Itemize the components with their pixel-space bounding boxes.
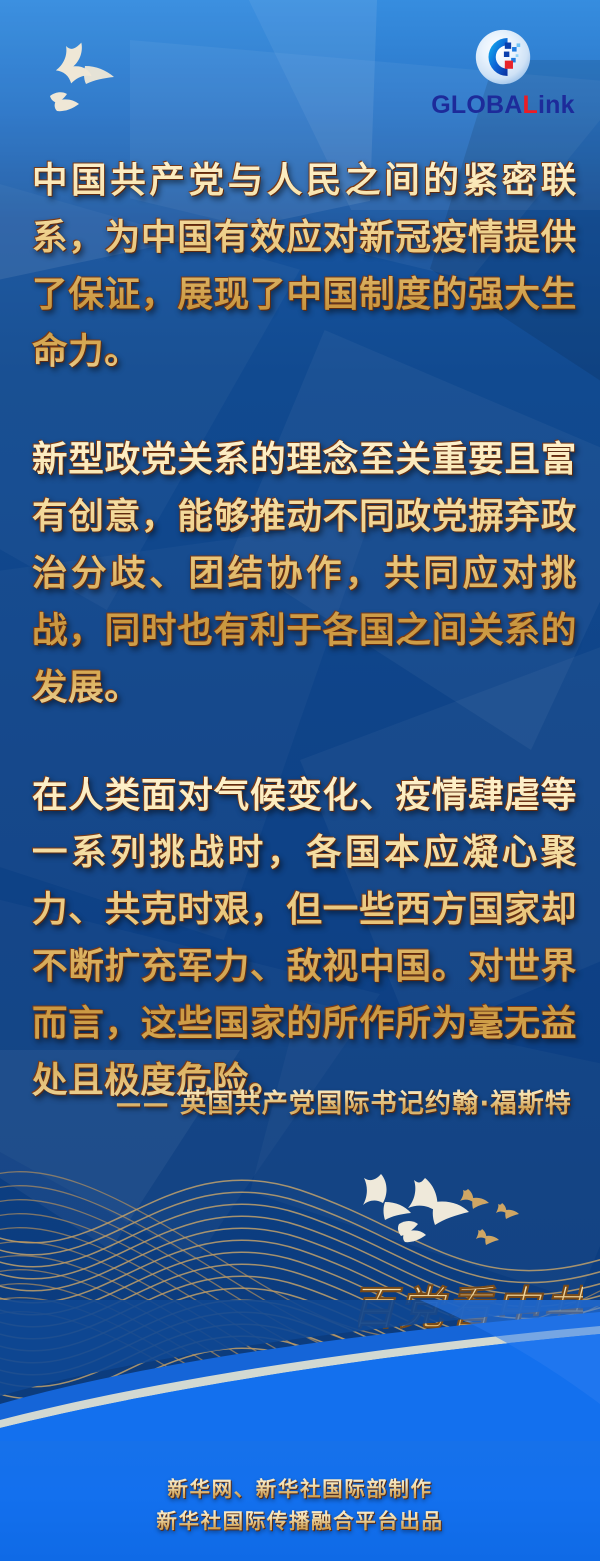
quote-paragraph: 新型政党关系的理念至关重要且富有创意，能够推动不同政党摒弃政治分歧、团结协作，共… <box>32 431 577 716</box>
dove-flock-icon <box>355 1158 530 1263</box>
quote-paragraph: 中国共产党与人民之间的紧密联系，为中国有效应对新冠疫情提供了保证，展现了中国制度… <box>32 152 577 380</box>
brand-name-part2: ink <box>538 91 575 119</box>
footer-line-2: 新华社国际传播融合平台出品 <box>0 1505 600 1537</box>
globalink-orb-icon <box>474 28 532 86</box>
brand-name-part1: GLOBA <box>431 91 522 119</box>
quote-attribution: —— 英国共产党国际书记约翰·福斯特 <box>0 1083 600 1120</box>
poster-canvas: GLOBALink 中国共产党与人民之间的紧密联系，为中国有效应对新冠疫情提供了… <box>0 0 600 1561</box>
brand-name-accent: L <box>523 91 538 119</box>
brand-wordmark: GLOBALink <box>428 93 578 118</box>
dove-pair-icon <box>28 22 148 132</box>
footer-credits: 新华网、新华社国际部制作 新华社国际传播融合平台出品 <box>0 1473 600 1561</box>
quote-block: 中国共产党与人民之间的紧密联系，为中国有效应对新冠疫情提供了保证，展现了中国制度… <box>32 152 577 1109</box>
brand-logo: GLOBALink <box>428 28 578 118</box>
footer-bar: 新华网、新华社国际部制作 新华社国际传播融合平台出品 <box>0 1441 600 1561</box>
quote-paragraph: 在人类面对气候变化、疫情肆虐等一系列挑战时，各国本应凝心聚力、共克时艰，但一些西… <box>32 767 577 1109</box>
footer-line-1: 新华网、新华社国际部制作 <box>0 1473 600 1505</box>
